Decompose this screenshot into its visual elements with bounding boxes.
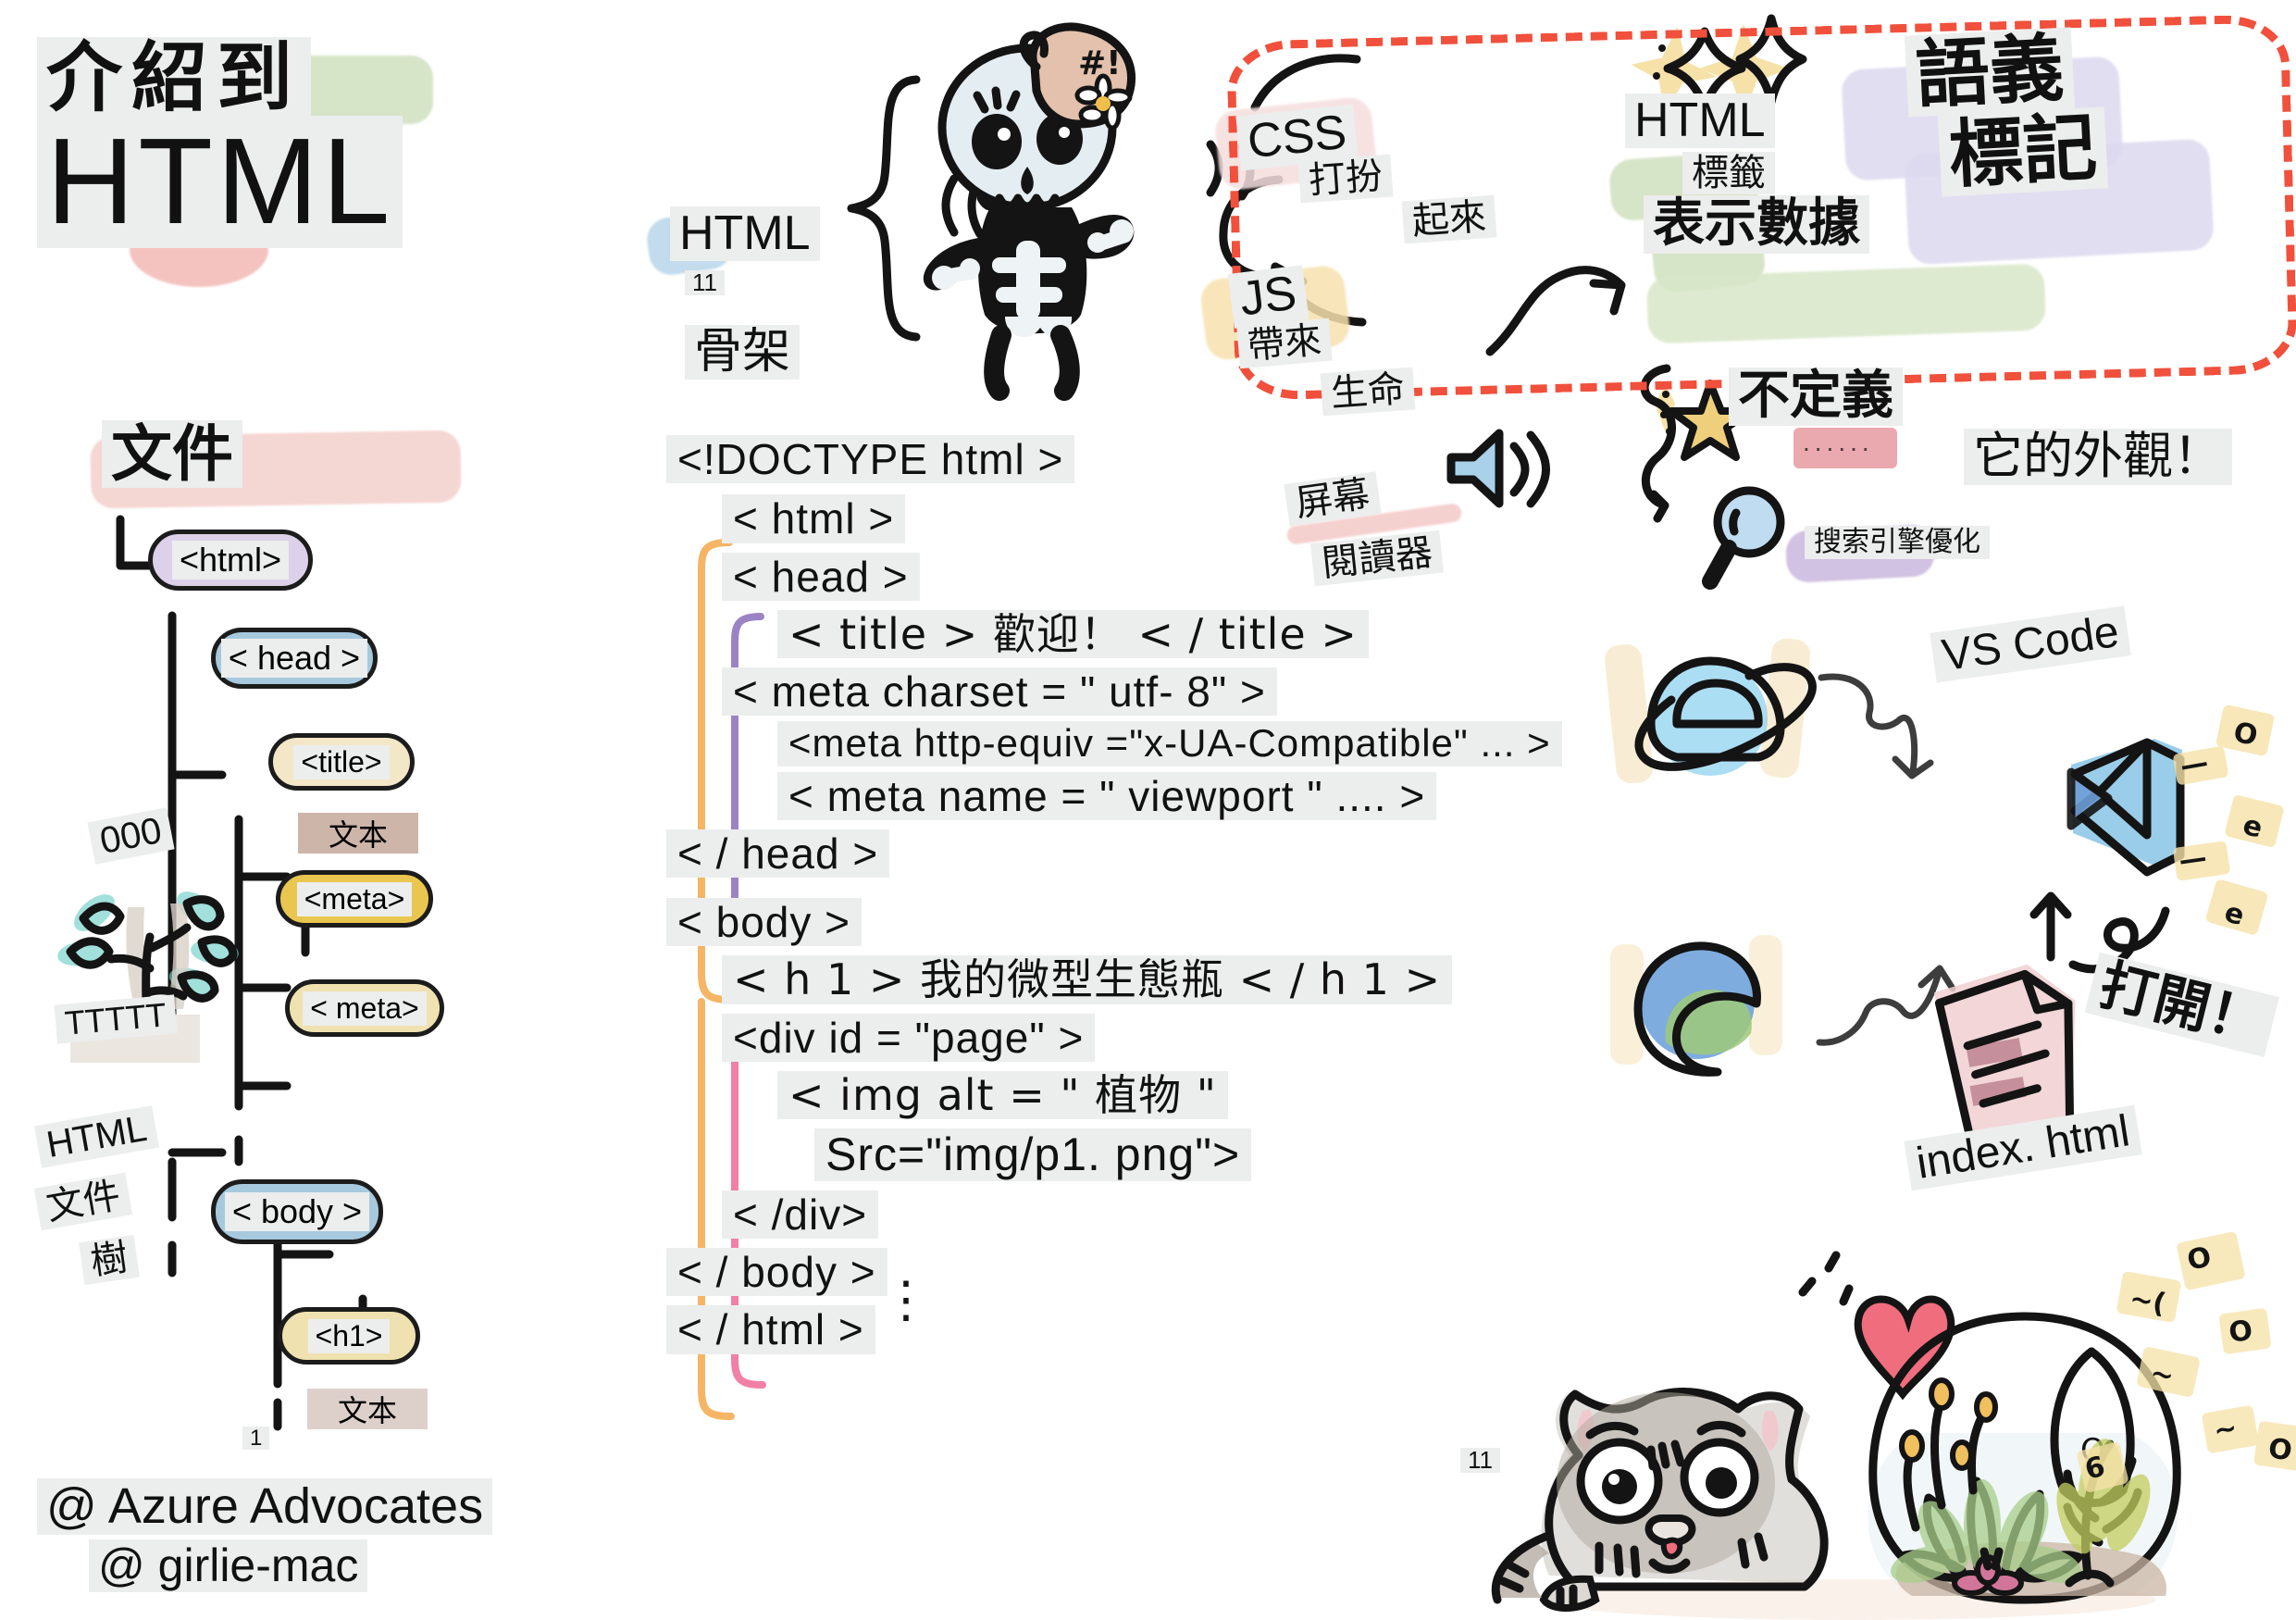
code-line-html-open: < html >: [722, 494, 1562, 542]
skeleton-html-label: HTML: [670, 206, 820, 261]
code-vertical-ellipsis-text: ⋮: [881, 1272, 931, 1327]
code-line-meta-charset: < meta charset = " utf- 8" >: [722, 667, 1562, 716]
credit-line-2-text: @ girlie-mac: [89, 1539, 367, 1592]
semantic-its-look-text: 它的外觀！: [1964, 429, 2232, 485]
tree-node-meta-1[interactable]: <meta>: [276, 870, 433, 928]
tree-node-meta-1-label: <meta>: [297, 882, 413, 916]
semantic-html-word-text: HTML: [1625, 93, 1775, 148]
js-desc-1: 帶來: [1236, 318, 1333, 369]
tree-node-title-label: <title>: [293, 745, 389, 779]
semantic-its-look: 它的外觀！: [1964, 428, 2232, 485]
js-desc-2: 生命: [1321, 368, 1416, 417]
skeleton-frame-text: 骨架: [685, 325, 800, 380]
code-line-div-close: < /div>: [722, 1190, 1562, 1239]
semantic-heading-2: 標記: [1938, 105, 2109, 198]
semantic-represents-data-text: 表示數據: [1644, 195, 1869, 254]
code-line-head-close: < / head >: [666, 829, 1562, 878]
css-desc-2: 起來: [1402, 195, 1497, 244]
title-html-text: HTML: [37, 116, 403, 248]
tree-heading-text: 文件: [102, 420, 242, 488]
code-line-doctype: <!DOCTYPE html >: [666, 435, 1562, 483]
tree-leaf-title-text: 文本: [298, 813, 418, 854]
credit-line-2: @ girlie-mac: [89, 1539, 367, 1592]
code-line-body-open: < body >: [666, 898, 1562, 946]
code-line-div-open: <div id = "page" >: [722, 1014, 1562, 1062]
skeleton-html-sub: 11: [685, 268, 725, 297]
semantic-tag-word-text: 標籤: [1682, 152, 1775, 194]
pet-page-number: 11: [1460, 1446, 1500, 1475]
tree-node-meta-2[interactable]: < meta>: [285, 979, 444, 1037]
tree-page-number-text: 1: [242, 1427, 269, 1450]
code-line-h1: < h 1 > 我的微型生態瓶 < / h 1 >: [722, 955, 1562, 1003]
tree-caption-line3-text: 樹: [79, 1235, 140, 1285]
tree-node-head[interactable]: < head >: [211, 628, 378, 689]
tree-leaf-h1-text-label: 文本: [338, 1388, 397, 1430]
page-title-intro: 介紹到: [37, 35, 311, 122]
svg-text:O: O: [2266, 1432, 2294, 1467]
tree-node-head-label: < head >: [221, 639, 367, 678]
semantic-redacted-text: ......: [1803, 428, 1874, 456]
cat-and-terrarium-illustration: O: [1481, 1213, 2296, 1620]
tree-node-html-label: <html>: [172, 541, 289, 579]
semantic-not-define-text: 不定義: [1729, 368, 1903, 426]
semantic-seo-text: 搜索引擎優化: [1805, 526, 1990, 559]
internet-explorer-icon: [1610, 639, 1823, 805]
vscode-sparkle-chars-icon: O — e — e: [2175, 704, 2295, 944]
css-desc-2-text: 起來: [1402, 195, 1497, 244]
semantic-seo-label: 搜索引擎優化: [1805, 526, 1990, 559]
code-line-meta-viewport: < meta name = " viewport " .... >: [777, 772, 1562, 820]
code-line-meta-httpequiv: <meta http-equiv ="x-UA-Compatible" ... …: [777, 721, 1562, 766]
credit-line-1: @ Azure Advocates: [37, 1477, 492, 1535]
svg-text:—: —: [2178, 746, 2211, 783]
code-line-body-close: < / body >: [666, 1248, 1562, 1296]
tree-node-h1-label: <h1>: [308, 1319, 391, 1353]
code-vertical-ellipsis: ⋮: [881, 1287, 931, 1315]
skeleton-frame-label: 骨架: [685, 324, 800, 380]
svg-text:O: O: [2227, 1315, 2254, 1350]
code-line-title: < title > 歡迎！ < / title >: [777, 610, 1562, 658]
pet-page-number-text: 11: [1460, 1448, 1500, 1473]
code-line-img-src: Src="img/p1. png">: [814, 1128, 1562, 1181]
semantic-tag-word: 標籤: [1682, 152, 1775, 194]
sketchnote-canvas: 介紹到 HTML HTML 11 骨架 #!: [0, 0, 2296, 1619]
semantic-html-word: HTML: [1625, 93, 1775, 148]
code-listing: <!DOCTYPE html > < html > < head > < tit…: [666, 435, 1562, 1354]
css-desc-1-text: 打扮: [1298, 155, 1394, 204]
tree-page-number: 1: [242, 1426, 269, 1452]
edge-browser-icon: [1610, 926, 1786, 1083]
vscode-label: VS Code: [1930, 605, 2131, 683]
title-intro-text: 介紹到: [37, 37, 311, 120]
code-line-head-open: < head >: [722, 553, 1562, 601]
js-label-text: JS: [1228, 265, 1309, 328]
tree-node-body-label: < body >: [225, 1192, 369, 1231]
credit-line-1-text: @ Azure Advocates: [37, 1478, 492, 1535]
js-desc-1-text: 帶來: [1236, 318, 1333, 369]
ie-arrow-icon: [1814, 667, 1962, 787]
svg-text:—: —: [2177, 841, 2209, 878]
semantic-heading-1: 語義: [1905, 25, 2076, 118]
skeleton-html-text: HTML: [670, 206, 820, 261]
svg-text:~(: ~(: [2128, 1282, 2168, 1320]
tree-node-body[interactable]: < body >: [211, 1179, 383, 1244]
semantic-heading-1-text: 語義: [1905, 27, 2075, 117]
tree-leaf-h1-text: 文本: [307, 1389, 428, 1429]
semantic-represents-data: 表示數據: [1644, 193, 1869, 254]
skeleton-html-sub-text: 11: [685, 270, 725, 295]
semantic-redacted-dots: ......: [1803, 428, 1874, 457]
vscode-label-text: VS Code: [1930, 605, 2131, 682]
code-line-html-close: < / html >: [666, 1305, 1562, 1353]
tree-node-title[interactable]: <title>: [268, 733, 415, 791]
tree-leaf-title-text-label: 文本: [329, 812, 388, 854]
css-desc-1: 打扮: [1298, 155, 1394, 204]
semantic-heading-2-text: 標記: [1938, 106, 2108, 196]
tree-heading: 文件: [102, 418, 242, 489]
tree-node-meta-2-label: < meta>: [303, 991, 426, 1026]
semantic-not-define: 不定義: [1729, 365, 1903, 426]
tree-caption-line3: 樹: [79, 1235, 140, 1285]
tree-node-html[interactable]: <html>: [148, 530, 313, 591]
js-label: JS: [1228, 264, 1309, 328]
page-title-html: HTML: [37, 111, 403, 251]
tree-node-h1[interactable]: <h1>: [278, 1307, 420, 1365]
code-line-img-alt: < img alt = " 植物 ": [777, 1071, 1562, 1119]
js-desc-2-text: 生命: [1321, 368, 1416, 417]
